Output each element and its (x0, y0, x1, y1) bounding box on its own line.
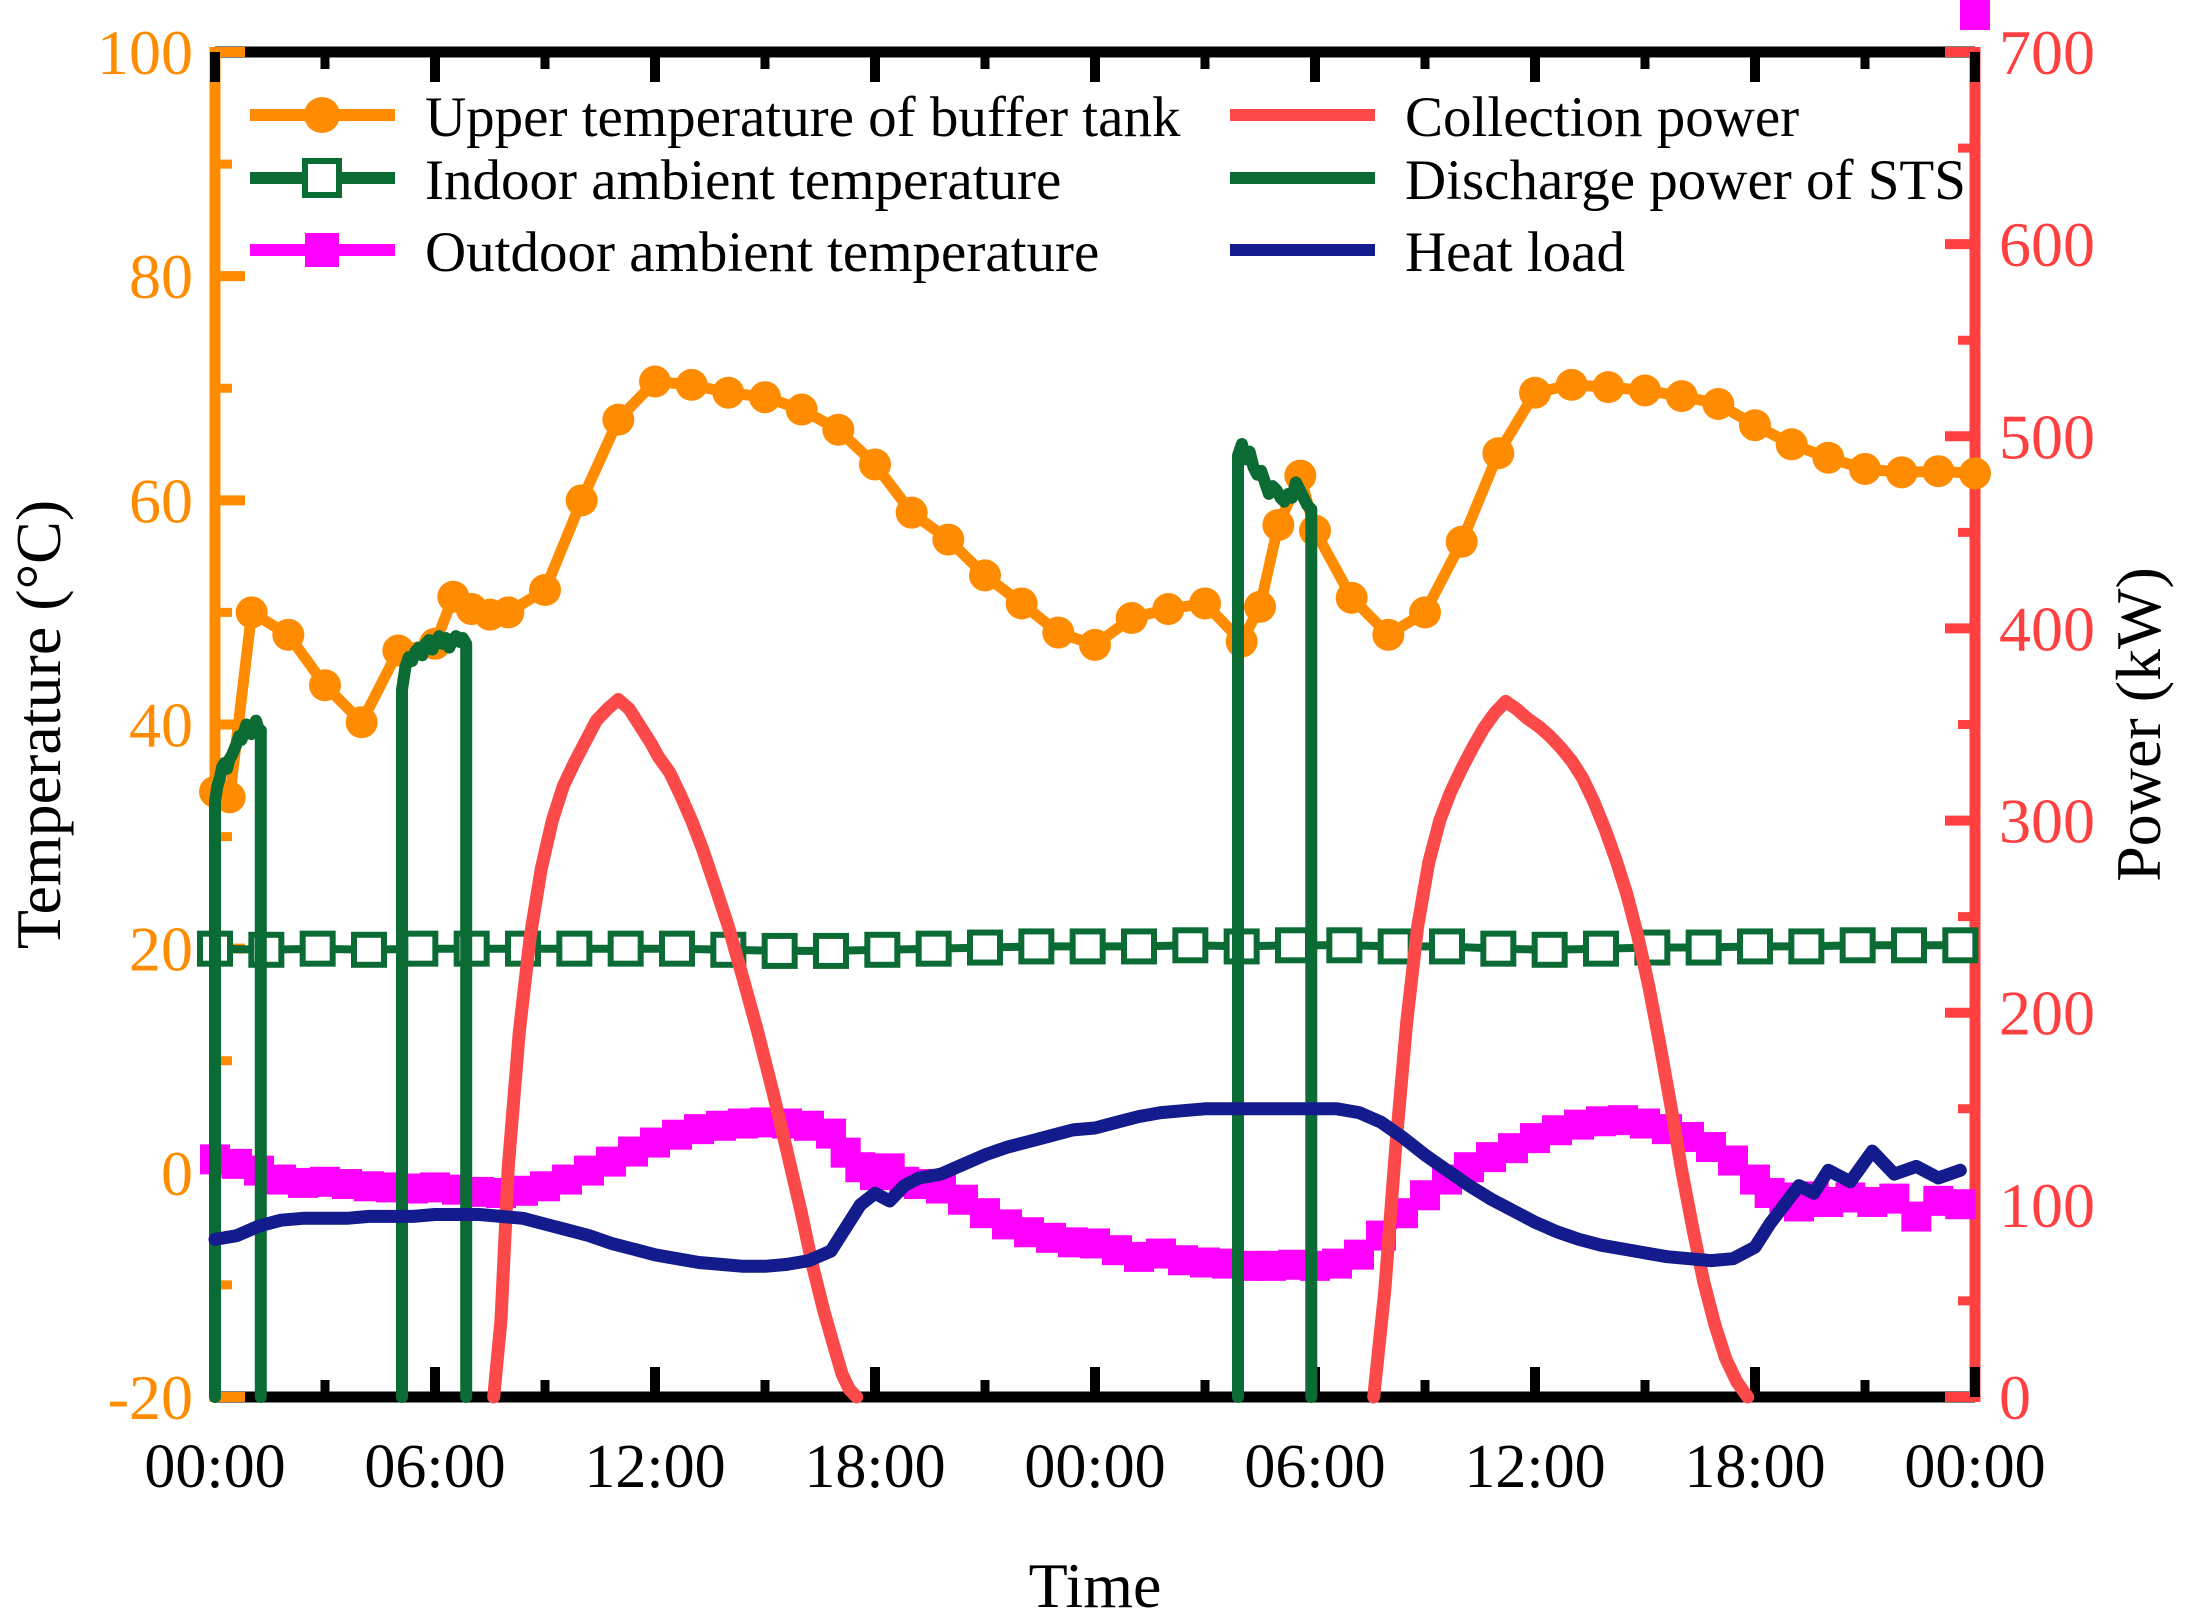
data-point-marker[interactable] (1702, 388, 1734, 420)
data-point-marker[interactable] (354, 935, 384, 965)
data-point-marker[interactable] (1409, 596, 1441, 628)
data-point-marker[interactable] (1960, 0, 1990, 30)
data-point-marker[interactable] (1556, 369, 1588, 401)
data-point-marker[interactable] (1124, 931, 1154, 961)
legend-label[interactable]: Indoor ambient temperature (425, 149, 1061, 212)
data-point-marker[interactable] (611, 934, 641, 964)
y-axis-tick-label[interactable]: 0 (161, 1138, 193, 1209)
data-point-marker[interactable] (1922, 455, 1954, 487)
data-point-marker[interactable] (1886, 456, 1918, 488)
data-point-marker[interactable] (765, 936, 795, 966)
data-point-marker[interactable] (1483, 934, 1513, 964)
y2-axis-tick-label[interactable]: 700 (1999, 17, 2095, 88)
data-point-marker[interactable] (1336, 582, 1368, 614)
data-point-marker[interactable] (969, 559, 1001, 591)
y2-axis-tick-label[interactable]: 400 (1999, 593, 2095, 664)
data-point-marker[interactable] (1006, 587, 1038, 619)
data-point-marker[interactable] (405, 934, 435, 964)
data-point-marker[interactable] (932, 524, 964, 556)
data-point-marker[interactable] (1812, 442, 1844, 474)
data-point-marker[interactable] (1021, 931, 1051, 961)
data-point-marker[interactable] (346, 706, 378, 738)
legend-marker-filled-square-icon[interactable] (305, 233, 339, 267)
data-point-marker[interactable] (1116, 602, 1148, 634)
legend-label[interactable]: Upper temperature of buffer tank (425, 86, 1181, 149)
data-point-marker[interactable] (1629, 374, 1661, 406)
data-point-marker[interactable] (1519, 377, 1551, 409)
data-point-marker[interactable] (822, 414, 854, 446)
data-point-marker[interactable] (1945, 1189, 1975, 1219)
data-point-marker[interactable] (1791, 931, 1821, 961)
legend-label[interactable]: Discharge power of STS (1405, 149, 1966, 212)
data-point-marker[interactable] (639, 366, 671, 398)
x-axis-tick-label[interactable]: 06:00 (1244, 1433, 1385, 1501)
data-point-marker[interactable] (970, 933, 1000, 963)
data-point-marker[interactable] (662, 934, 692, 964)
data-point-marker[interactable] (896, 497, 928, 529)
data-point-marker[interactable] (1446, 526, 1478, 558)
legend-label[interactable]: Heat load (1405, 221, 1625, 284)
y2-axis-tick-label[interactable]: 600 (1999, 209, 2095, 280)
data-point-marker[interactable] (1262, 509, 1294, 541)
x-axis-tick-label[interactable]: 18:00 (1684, 1433, 1825, 1501)
data-point-marker[interactable] (303, 934, 333, 964)
x-axis-tick-label[interactable]: 06:00 (364, 1433, 505, 1501)
data-point-marker[interactable] (309, 669, 341, 701)
y-axis-tick-label[interactable]: 80 (129, 241, 193, 312)
data-point-marker[interactable] (1381, 931, 1411, 961)
data-point-marker[interactable] (602, 404, 634, 436)
data-point-marker[interactable] (1586, 934, 1616, 964)
data-point-marker[interactable] (1945, 930, 1975, 960)
legend-marker-open-square-icon[interactable] (305, 161, 339, 195)
y-axis-title[interactable]: Temperature (°C) (3, 500, 74, 949)
data-point-marker[interactable] (1244, 591, 1276, 623)
data-point-marker[interactable] (1894, 930, 1924, 960)
y-axis-tick-label[interactable]: 40 (129, 690, 193, 761)
data-point-marker[interactable] (272, 619, 304, 651)
data-point-marker[interactable] (492, 596, 524, 628)
data-point-marker[interactable] (1739, 409, 1771, 441)
y2-axis-title[interactable]: Power (kW) (2103, 567, 2174, 882)
data-point-marker[interactable] (786, 394, 818, 426)
data-point-marker[interactable] (1849, 453, 1881, 485)
data-point-marker[interactable] (1482, 437, 1514, 469)
data-point-marker[interactable] (816, 936, 846, 966)
data-point-marker[interactable] (1959, 457, 1991, 489)
y2-axis-tick-label[interactable]: 500 (1999, 401, 2095, 472)
x-axis-title[interactable]: Time (1029, 1550, 1162, 1621)
data-point-marker[interactable] (559, 934, 589, 964)
data-point-marker[interactable] (1372, 619, 1404, 651)
y2-axis-tick-label[interactable]: 0 (1999, 1362, 2031, 1433)
x-axis-tick-label[interactable]: 00:00 (1024, 1433, 1165, 1501)
data-point-marker[interactable] (1776, 428, 1808, 460)
data-point-marker[interactable] (1329, 930, 1359, 960)
data-point-marker[interactable] (1278, 930, 1308, 960)
x-axis-tick-label[interactable]: 12:00 (584, 1433, 725, 1501)
y-axis-tick-label[interactable]: 100 (97, 17, 193, 88)
x-axis-tick-label[interactable]: 00:00 (144, 1433, 285, 1501)
data-point-marker[interactable] (1073, 931, 1103, 961)
data-point-marker[interactable] (1152, 593, 1184, 625)
data-point-marker[interactable] (236, 596, 268, 628)
data-point-marker[interactable] (529, 574, 561, 606)
data-point-marker[interactable] (1432, 931, 1462, 961)
y-axis-tick-label[interactable]: 20 (129, 914, 193, 985)
y-axis-tick-label[interactable]: -20 (108, 1362, 193, 1433)
data-point-marker[interactable] (1843, 930, 1873, 960)
data-point-marker[interactable] (859, 448, 891, 480)
y2-axis-tick-label[interactable]: 300 (1999, 786, 2095, 857)
legend-label[interactable]: Outdoor ambient temperature (425, 221, 1099, 284)
data-point-marker[interactable] (919, 934, 949, 964)
data-point-marker[interactable] (1175, 930, 1205, 960)
legend-marker-filled-circle-icon[interactable] (304, 97, 340, 133)
data-point-marker[interactable] (676, 369, 708, 401)
data-point-marker[interactable] (712, 377, 744, 409)
x-axis-tick-label[interactable]: 18:00 (804, 1433, 945, 1501)
y-axis-tick-label[interactable]: 60 (129, 465, 193, 536)
data-point-marker[interactable] (1535, 935, 1565, 965)
data-point-marker[interactable] (1689, 933, 1719, 963)
data-point-marker[interactable] (1079, 629, 1111, 661)
x-axis-tick-label[interactable]: 00:00 (1904, 1433, 2045, 1501)
data-point-marker[interactable] (1592, 371, 1624, 403)
data-point-marker[interactable] (1666, 380, 1698, 412)
y2-axis-tick-label[interactable]: 100 (1999, 1170, 2095, 1241)
chart-figure: -20020406080100010020030040050060070000:… (0, 0, 2212, 1621)
data-point-marker[interactable] (1042, 617, 1074, 649)
data-point-marker[interactable] (867, 935, 897, 965)
x-axis-tick-label[interactable]: 12:00 (1464, 1433, 1605, 1501)
y2-axis-tick-label[interactable]: 200 (1999, 978, 2095, 1049)
legend-label[interactable]: Collection power (1405, 86, 1799, 149)
data-point-marker[interactable] (1740, 931, 1770, 961)
data-point-marker[interactable] (566, 484, 598, 516)
data-point-marker[interactable] (749, 381, 781, 413)
dual-axis-time-series-chart: -20020406080100010020030040050060070000:… (0, 0, 2212, 1621)
data-point-marker[interactable] (1189, 587, 1221, 619)
